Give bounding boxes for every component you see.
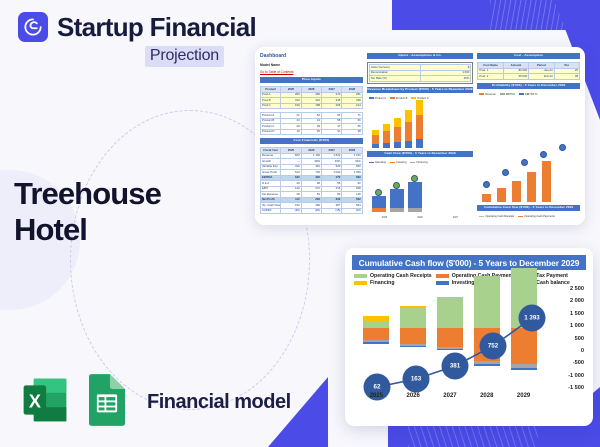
legend-label: Investing [452,280,475,286]
revenue-breakdown-header: Revenue Breakdown by Product ($'000) - 5… [367,87,474,93]
brand-subtitle-badge: Projection [145,46,224,67]
x-tick-label: 2027 [437,393,463,407]
legend-op-receipts: Operating Cash Receipts [479,215,514,218]
legend-label: Operating Cash Receipts [370,273,432,279]
legend-swatch [354,281,367,285]
chart-bar [416,100,423,148]
cumulative-legend: Operating Cash Receipts Operating Cash P… [477,214,580,219]
chart-marker [559,144,566,151]
chart-legend: Operating Cash Receipts Operating Cash P… [352,273,586,286]
page-title: Treehouse Hotel [14,176,161,248]
chart-marker [483,181,490,188]
google-sheets-icon [83,373,131,432]
cost-assumption-header: Cost - Assumption [477,53,580,59]
revenue-breakdown-chart [367,104,474,148]
legend-operating: Operating [369,161,386,164]
y-tick-label: 2 500 [544,286,586,292]
data-point-marker-2028: 752 [480,333,507,360]
x-tick-label: 2025 [363,393,389,407]
legend-op-payments: Operating Cash Payments [518,215,554,218]
legend-product-b: Product B [390,97,407,100]
x-tick-label: 2028 [474,393,500,407]
dashboard-column-left: Dashboard Model Name Go to Table of Cont… [260,53,363,219]
chart-x-axis: 2025 2026 2027 2028 2029 [358,393,542,407]
chart-bar [408,182,422,212]
inputs-assumptions-header: Inputs - Assumptions & Co. [367,53,474,59]
chart-bar [405,110,412,148]
chart-bar [542,161,551,202]
legend-revenue: Revenue [479,93,495,96]
dashboard-section-header: Price Inputs [260,77,363,83]
legend-item-financing: Financing [354,280,432,286]
dashboard-section-header-financials: Core Financials ($'000) [260,138,363,144]
legend-product-a: Product A [369,97,386,100]
legend-label: Financing [370,280,395,286]
profitability-legend: Revenue EBITDA EBITDA % [477,92,580,97]
chart-bar [497,188,506,202]
y-tick-label: 0 [544,348,586,354]
project-title-line-1: Treehouse [14,176,161,212]
data-point-marker-2029: 1 393 [519,305,546,332]
y-tick-label: -1 500 [544,385,586,391]
cashflow-chart-legend: Operating Investing Financing [367,160,474,165]
excel-letter: X [29,391,41,411]
brand-title: Startup Financial [57,14,256,40]
chart-bar [394,118,401,148]
chart-bar [372,130,379,148]
data-label: 752 [488,343,498,350]
filetype-row: X Financial model [18,373,291,432]
inputs-assumptions-table: Order Currency$ Denomination1 000 Tax Ra… [369,64,472,81]
chart-title: Cumulative Cash flow ($'000) - 5 Years t… [352,255,586,270]
cumulative-cashflow-header: Cumulative Cash flow ($'000) - 5 Years t… [477,205,580,211]
chart-bar [527,172,536,202]
chart-bar [383,124,390,148]
legend-item-operating-cash-receipts: Operating Cash Receipts [354,273,432,279]
inputs-assumptions-box: Order Currency$ Denomination1 000 Tax Ra… [367,62,474,83]
chart-bar [390,189,404,212]
cost-assumption-table: Cost NameAmountPeriodPer Prod. 180 000Ja… [477,62,580,79]
y-tick-label: 2 000 [544,298,586,304]
dashboard-grid: Dashboard Model Name Go to Table of Cont… [260,53,580,219]
chart-marker [411,175,418,182]
brand-subtitle-row: Projection [18,46,224,67]
project-title-line-2: Hotel [14,212,161,248]
dashboard-column-right: Cost - Assumption Cost NameAmountPeriodP… [477,53,580,219]
profitability-chart [477,100,580,202]
legend-swatch [354,274,367,278]
legend-swatch [436,274,449,278]
price-input-table: Product2025202620272028 Prod A2502602702… [260,86,363,109]
cumulative-cashflow-chart-card[interactable]: Cumulative Cash flow ($'000) - 5 Years t… [345,248,593,426]
chart-marker [375,189,382,196]
chart-marker [502,169,509,176]
filetype-label: Financial model [147,391,291,414]
dashboard-preview-title: Dashboard [260,53,363,60]
cashflow-mini-chart [367,168,474,212]
chart-y-axis: 2 500 2 000 1 500 1 000 500 0 -500 -1 00… [544,286,586,391]
y-tick-label: 500 [544,336,586,342]
brand-header: Startup Financial Projection [18,12,256,67]
legend-ebitda-pct: EBITDA % [519,93,537,96]
legend-swatch [436,281,449,285]
microsoft-excel-icon: X [18,373,72,432]
chart-bar [482,194,491,202]
data-label: 1 393 [524,315,539,322]
data-label: 381 [450,363,460,370]
dashboard-preview-card[interactable]: Dashboard Model Name Go to Table of Cont… [255,47,585,225]
chart-marker [521,159,528,166]
y-tick-label: -500 [544,360,586,366]
y-tick-label: 1 000 [544,323,586,329]
y-tick-label: 1 500 [544,311,586,317]
core-financials-table: Fiscal Year2025202620272028 Revenue8201 … [260,147,363,214]
data-label: 62 [374,384,381,391]
spiral-e-logo-icon [18,12,48,42]
chart-plot-area: 62 163 381 752 1 393 2025 2026 2027 2028… [352,290,586,407]
dashboard-toc-link[interactable]: Go to Table of Contents [260,70,363,74]
x-label: 2025 [382,215,387,219]
legend-label: Tax Payment [536,273,568,279]
x-label: 2026 [417,215,422,219]
dashboard-model-name: Model Name [260,63,363,67]
data-point-marker-2026: 163 [403,366,430,393]
x-tick-label: 2026 [400,393,426,407]
profitability-header: Profitability ($'000) - 5 Years to Decem… [477,83,580,89]
chart-marker [540,151,547,158]
data-point-marker-2027: 381 [442,353,469,380]
legend-ebitda: EBITDA [500,93,515,96]
legend-investing: Investing [390,161,406,164]
cashflow-chart-header: Cash Flow ($'000) - 5 Years to December … [367,151,474,157]
brand-row: Startup Financial [18,12,256,42]
data-label: 163 [411,376,421,383]
dashboard-column-middle: Inputs - Assumptions & Co. Order Currenc… [367,53,474,219]
legend-financing: Financing [410,161,427,164]
x-label: 2027 [453,215,458,219]
x-tick-label: 2029 [511,393,537,407]
chart-bar [372,196,386,212]
y-tick-label: -1 000 [544,373,586,379]
chart-marker [393,182,400,189]
product-table: Product A41526371 Product B33445866 Prod… [260,112,363,135]
cashflow-x-labels: 2025 2026 2027 [367,215,474,219]
chart-bar [512,181,521,202]
